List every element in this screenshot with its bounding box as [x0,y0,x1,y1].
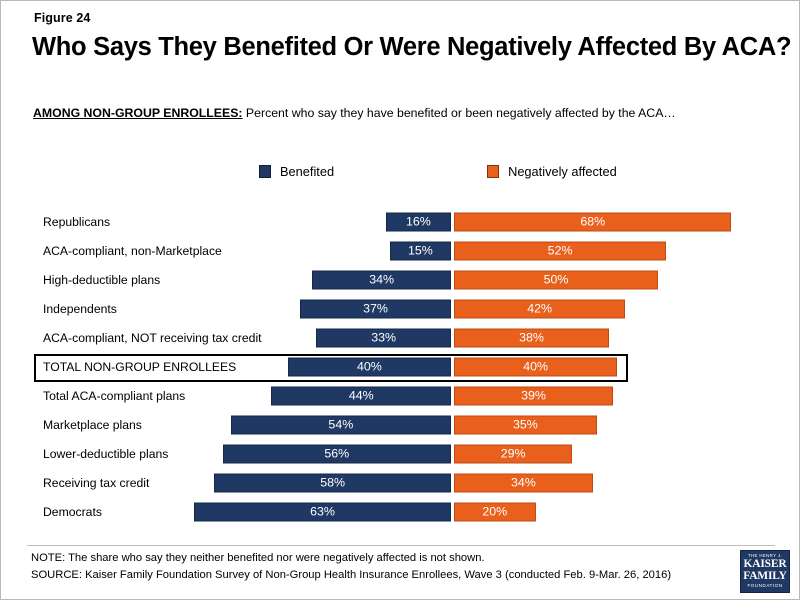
bar-row: High-deductible plans34%50% [1,265,800,294]
bar-value-label: 16% [406,215,431,227]
category-label: Receiving tax credit [43,476,149,488]
bar-value-label: 40% [523,360,548,372]
page-title: Who Says They Benefited Or Were Negative… [32,33,791,62]
bar-value-label: 40% [357,360,382,372]
bar-value-label: 58% [320,476,345,488]
bar-benefited: 16% [386,212,451,231]
bar-benefited: 34% [312,270,451,289]
subhead-lead: AMONG NON-GROUP ENROLLEES: [33,106,243,120]
bar-benefited: 58% [214,473,451,492]
bar-negatively-affected: 34% [454,473,593,492]
kaiser-family-foundation-logo: THE HENRY J. KAISER FAMILY FOUNDATION [740,550,790,593]
bar-negatively-affected: 50% [454,270,658,289]
bar-negatively-affected: 38% [454,328,609,347]
bar-benefited: 15% [390,241,451,260]
bar-value-label: 33% [371,331,396,343]
footer-source: SOURCE: Kaiser Family Foundation Survey … [31,569,671,581]
bar-benefited: 40% [288,357,451,376]
bar-value-label: 29% [501,447,526,459]
subhead-rest: Percent who say they have benefited or b… [243,106,676,120]
bar-row: Lower-deductible plans56%29% [1,439,800,468]
bar-row: Independents37%42% [1,294,800,323]
chart-frame: Figure 24 Who Says They Benefited Or Wer… [0,0,800,600]
bar-row: Total ACA-compliant plans44%39% [1,381,800,410]
category-label: High-deductible plans [43,273,160,285]
bar-benefited: 56% [223,444,451,463]
bar-row: Republicans16%68% [1,207,800,236]
subhead: AMONG NON-GROUP ENROLLEES: Percent who s… [33,106,676,120]
bar-value-label: 54% [328,418,353,430]
bar-negatively-affected: 39% [454,386,613,405]
bar-negatively-affected: 52% [454,241,666,260]
legend-item-benefited[interactable]: Benefited [259,164,334,179]
bar-value-label: 20% [482,505,507,517]
bar-value-label: 68% [580,215,605,227]
bar-value-label: 52% [548,244,573,256]
category-label: Independents [43,302,117,314]
bar-row: Democrats63%20% [1,497,800,526]
category-label: TOTAL NON-GROUP ENROLLEES [43,360,236,372]
bar-negatively-affected: 42% [454,299,625,318]
bar-negatively-affected: 20% [454,502,536,521]
bar-benefited: 33% [316,328,451,347]
bar-value-label: 39% [521,389,546,401]
bar-benefited: 37% [300,299,451,318]
bar-benefited: 54% [231,415,451,434]
legend-label-negatively-affected: Negatively affected [508,164,617,179]
footer-divider [27,545,775,546]
category-label: ACA-compliant, non-Marketplace [43,244,222,256]
logo-line-3: FAMILY [743,571,787,583]
category-label: Democrats [43,505,102,517]
bar-value-label: 15% [408,244,433,256]
legend-swatch-benefited [259,165,271,178]
legend-swatch-negatively-affected [487,165,499,178]
bar-benefited: 63% [194,502,451,521]
bar-negatively-affected: 40% [454,357,617,376]
bar-value-label: 37% [363,302,388,314]
bar-row: ACA-compliant, NOT receiving tax credit3… [1,323,800,352]
category-label: Total ACA-compliant plans [43,389,185,401]
bar-value-label: 35% [513,418,538,430]
footer-note: NOTE: The share who say they neither ben… [31,552,485,564]
figure-number: Figure 24 [34,11,90,25]
category-label: Republicans [43,215,110,227]
bar-negatively-affected: 68% [454,212,731,231]
bar-value-label: 42% [527,302,552,314]
bar-value-label: 50% [544,273,569,285]
bar-benefited: 44% [271,386,451,405]
bar-row: Marketplace plans54%35% [1,410,800,439]
logo-line-4: FOUNDATION [747,584,782,589]
bar-negatively-affected: 29% [454,444,572,463]
legend-label-benefited: Benefited [280,164,334,179]
legend: Benefited Negatively affected [259,164,617,179]
bar-row: ACA-compliant, non-Marketplace15%52% [1,236,800,265]
bar-value-label: 44% [349,389,374,401]
bar-value-label: 34% [511,476,536,488]
bar-row: Receiving tax credit58%34% [1,468,800,497]
bar-value-label: 34% [369,273,394,285]
category-label: Marketplace plans [43,418,142,430]
category-label: Lower-deductible plans [43,447,168,459]
legend-item-negatively-affected[interactable]: Negatively affected [487,164,617,179]
bar-value-label: 38% [519,331,544,343]
bar-rows: Republicans16%68%ACA-compliant, non-Mark… [1,207,800,526]
bar-negatively-affected: 35% [454,415,597,434]
bar-row: TOTAL NON-GROUP ENROLLEES40%40% [1,352,800,381]
category-label: ACA-compliant, NOT receiving tax credit [43,331,262,343]
bar-value-label: 56% [324,447,349,459]
bar-value-label: 63% [310,505,335,517]
bar-chart-plot: Republicans16%68%ACA-compliant, non-Mark… [1,207,800,537]
